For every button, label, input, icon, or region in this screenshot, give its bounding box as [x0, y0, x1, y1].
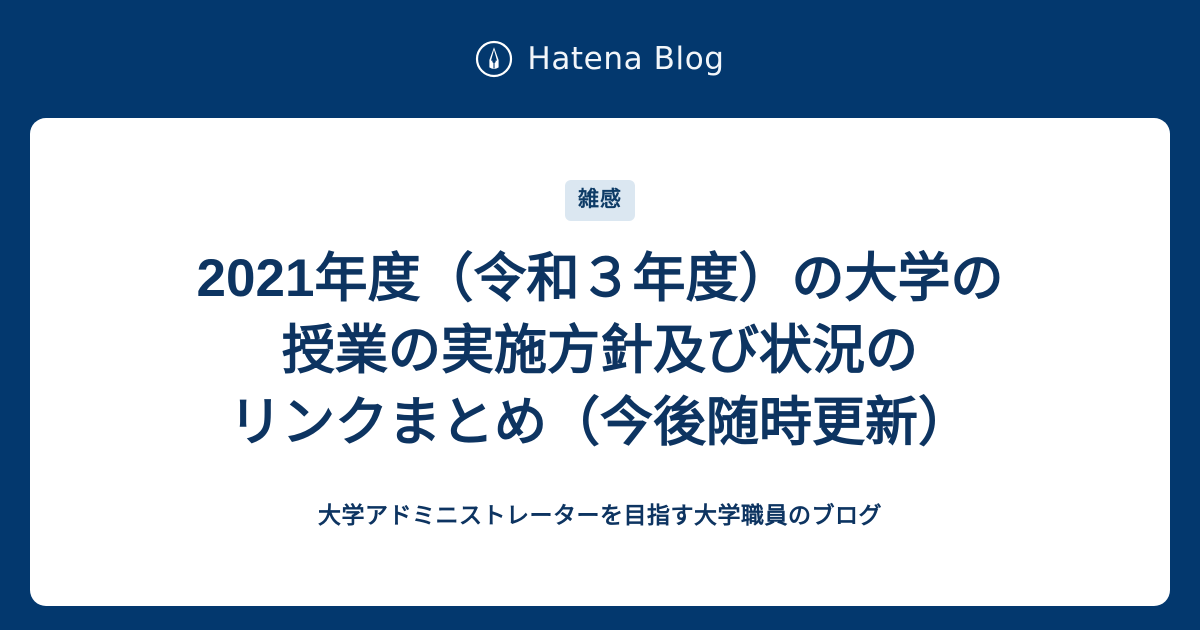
entry-title: 2021年度（令和３年度）の大学の 授業の実施方針及び状況の リンクまとめ（今後…: [197, 243, 1004, 459]
entry-title-line-2: 授業の実施方針及び状況の: [197, 315, 1004, 387]
category-badge[interactable]: 雑感: [565, 180, 635, 221]
og-image-canvas: Hatena Blog 雑感 2021年度（令和３年度）の大学の 授業の実施方針…: [0, 0, 1200, 630]
entry-title-line-1: 2021年度（令和３年度）の大学の: [197, 243, 1004, 315]
blog-name: 大学アドミニストレーターを目指す大学職員のブログ: [318, 501, 882, 531]
hatena-blog-wordmark: Hatena Blog: [527, 44, 724, 75]
entry-card: 雑感 2021年度（令和３年度）の大学の 授業の実施方針及び状況の リンクまとめ…: [30, 118, 1170, 606]
hatena-pen-nib-icon: [475, 40, 513, 78]
entry-title-line-3: リンクまとめ（今後随時更新）: [197, 387, 1004, 459]
brand-header: Hatena Blog: [0, 0, 1200, 118]
